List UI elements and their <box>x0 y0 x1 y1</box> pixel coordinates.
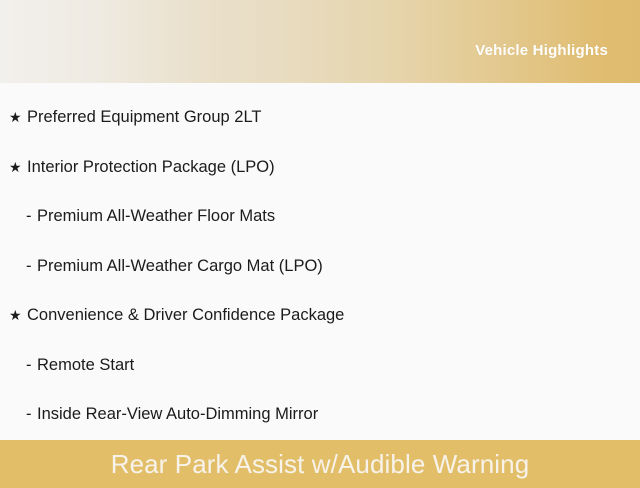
dash-bullet-icon: - <box>26 242 37 292</box>
highlights-list: ★ Preferred Equipment Group 2LT ★ Interi… <box>0 93 640 440</box>
list-item-label: Convenience & Driver Confidence Package <box>27 291 344 341</box>
dash-bullet-icon: - <box>26 192 37 242</box>
vehicle-highlights-slide: Vehicle Highlights ★ Preferred Equipment… <box>0 0 640 480</box>
header-banner: Vehicle Highlights <box>0 0 640 83</box>
footer-caption-text: Rear Park Assist w/Audible Warning <box>111 449 530 479</box>
star-bullet-icon: ★ <box>9 143 27 193</box>
dash-bullet-icon: - <box>26 390 37 440</box>
list-item[interactable]: ★ Preferred Equipment Group 2LT <box>0 93 640 143</box>
star-bullet-icon: ★ <box>9 291 27 341</box>
list-item-label: Premium All-Weather Cargo Mat (LPO) <box>37 242 323 292</box>
highlights-body: ★ Preferred Equipment Group 2LT ★ Interi… <box>0 83 640 440</box>
list-item[interactable]: ★ Convenience & Driver Confidence Packag… <box>0 291 640 341</box>
list-item[interactable]: - Remote Start <box>0 341 640 391</box>
list-item-label: Preferred Equipment Group 2LT <box>27 93 261 143</box>
list-item[interactable]: - Premium All-Weather Cargo Mat (LPO) <box>0 242 640 292</box>
page-title: Vehicle Highlights <box>475 24 640 59</box>
list-item-label: Remote Start <box>37 341 134 391</box>
list-item[interactable]: - Premium All-Weather Floor Mats <box>0 192 640 242</box>
list-item-label: Premium All-Weather Floor Mats <box>37 192 275 242</box>
list-item[interactable]: ★ Interior Protection Package (LPO) <box>0 143 640 193</box>
list-item-label: Interior Protection Package (LPO) <box>27 143 275 193</box>
list-item-label: Inside Rear-View Auto-Dimming Mirror <box>37 390 318 440</box>
star-bullet-icon: ★ <box>9 93 27 143</box>
footer-caption-bar: Rear Park Assist w/Audible Warning <box>0 440 640 488</box>
dash-bullet-icon: - <box>26 341 37 391</box>
list-item[interactable]: - Inside Rear-View Auto-Dimming Mirror <box>0 390 640 440</box>
